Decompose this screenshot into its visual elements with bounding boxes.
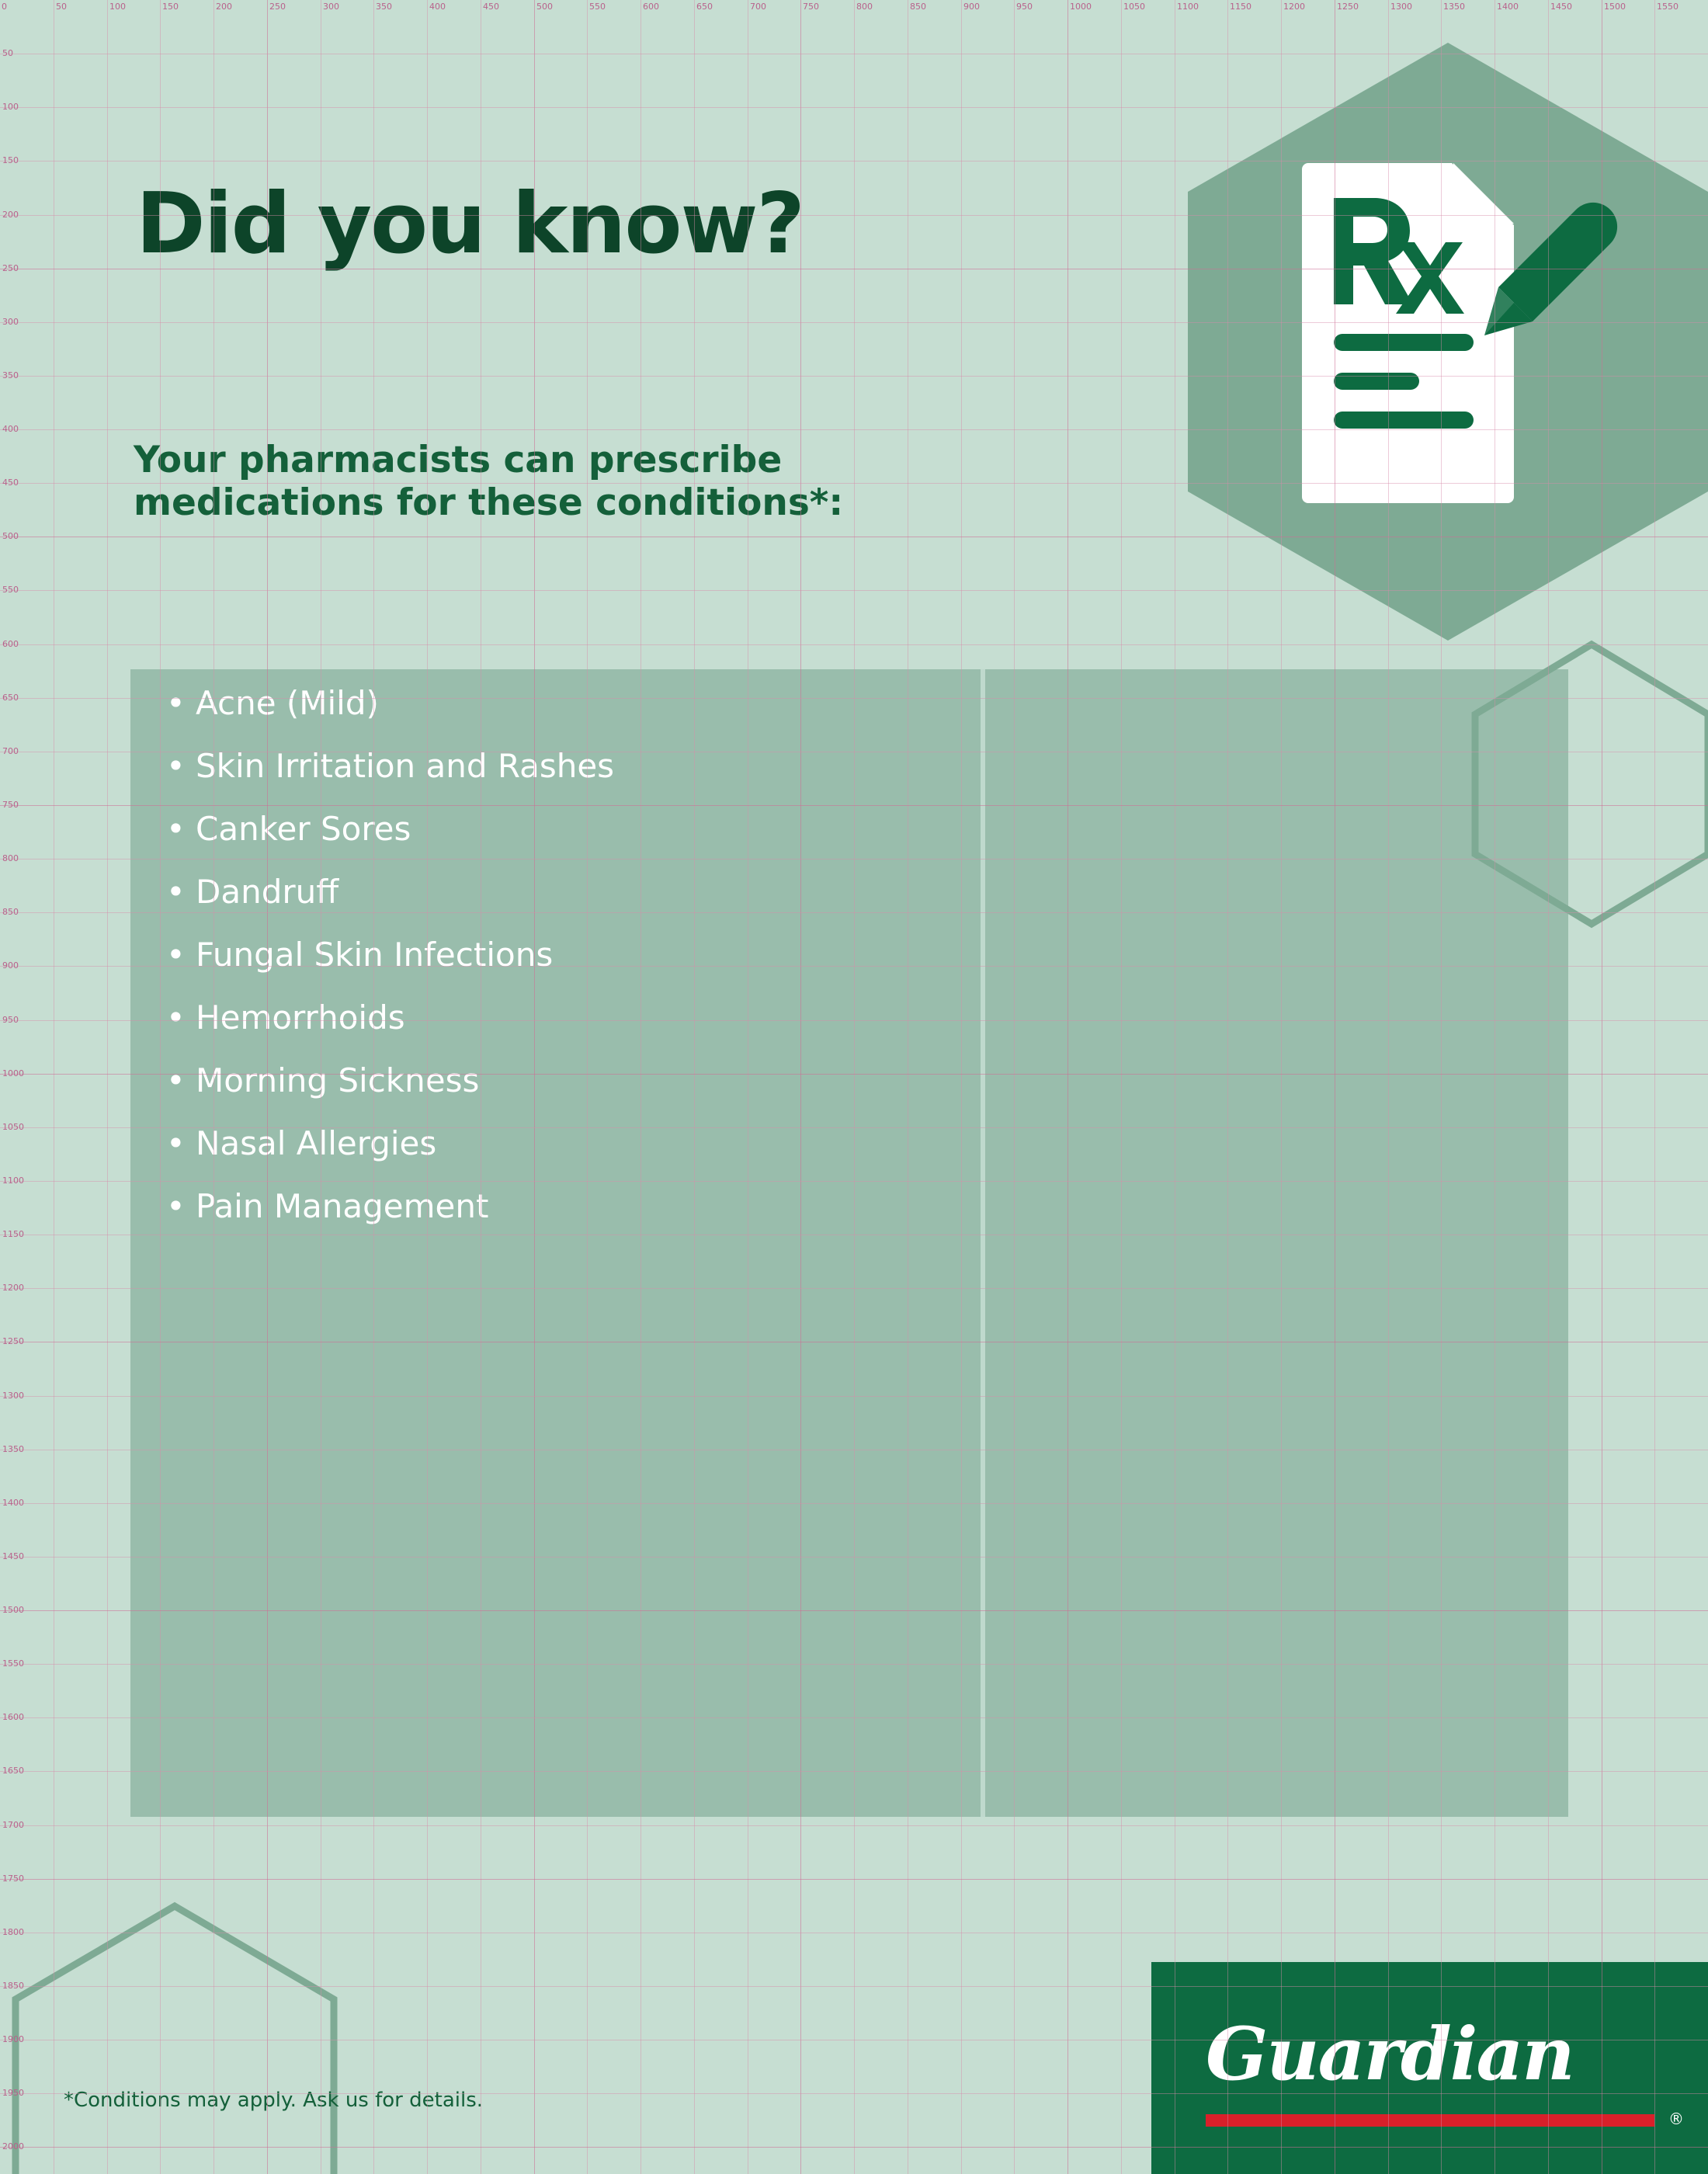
list-item: •Canker Sores (166, 813, 614, 846)
logo-wordmark: Guardian (1206, 2018, 1574, 2091)
list-item: •Nasal Allergies (166, 1127, 614, 1160)
subheading: Your pharmacists can prescribe medicatio… (134, 439, 1104, 525)
footnote: *Conditions may apply. Ask us for detail… (64, 2089, 483, 2112)
panel-divider (981, 669, 985, 1817)
bullet-icon: • (166, 687, 196, 720)
list-item-label: Skin Irritation and Rashes (196, 747, 614, 785)
prescription-document-icon (1165, 31, 1708, 652)
bullet-icon: • (166, 1064, 196, 1097)
list-item-label: Acne (Mild) (196, 684, 379, 722)
bullet-icon: • (166, 750, 196, 783)
registered-trademark-icon: ® (1668, 2110, 1684, 2128)
bullet-icon: • (166, 813, 196, 846)
list-item: •Acne (Mild) (166, 687, 614, 720)
list-item-label: Canker Sores (196, 810, 411, 848)
poster-content: Did you know? Your pharmacists can presc… (0, 0, 1708, 2174)
list-item: •Hemorrhoids (166, 1002, 614, 1034)
bullet-icon: • (166, 1002, 196, 1034)
list-item-label: Hemorrhoids (196, 998, 405, 1037)
list-item: •Skin Irritation and Rashes (166, 750, 614, 783)
list-item-label: Nasal Allergies (196, 1124, 436, 1162)
list-item: •Morning Sickness (166, 1064, 614, 1097)
conditions-list: •Acne (Mild) •Skin Irritation and Rashes… (166, 687, 614, 1253)
list-item: •Dandruff (166, 876, 614, 908)
list-item-label: Pain Management (196, 1187, 489, 1225)
logo-underline (1206, 2114, 1654, 2127)
subheading-line-2: medications for these conditions*: (134, 481, 1104, 524)
list-item: •Pain Management (166, 1190, 614, 1223)
list-item-label: Fungal Skin Infections (196, 936, 553, 974)
list-item-label: Morning Sickness (196, 1061, 479, 1099)
page-title: Did you know? (136, 180, 804, 268)
bullet-icon: • (166, 1127, 196, 1160)
subheading-line-1: Your pharmacists can prescribe (134, 439, 1104, 481)
bullet-icon: • (166, 1190, 196, 1223)
list-item: •Fungal Skin Infections (166, 939, 614, 971)
bullet-icon: • (166, 939, 196, 971)
guardian-logo: Guardian ® (1151, 1962, 1708, 2174)
list-item-label: Dandruff (196, 873, 338, 911)
bullet-icon: • (166, 876, 196, 908)
